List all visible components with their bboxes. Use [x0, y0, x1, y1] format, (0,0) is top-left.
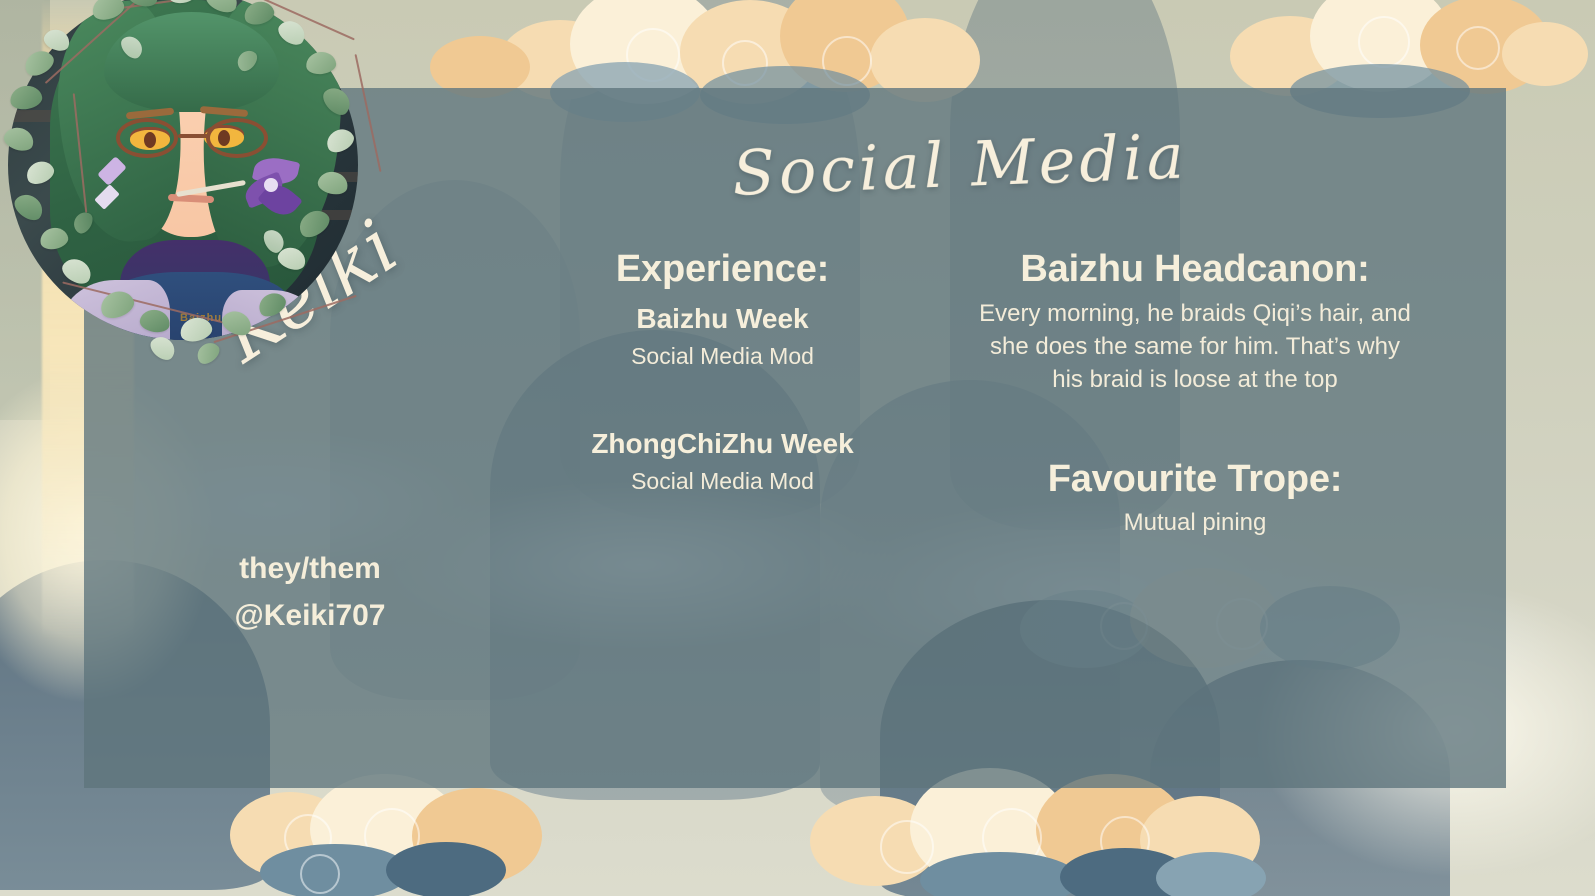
avatar-purple-flower [236, 158, 308, 220]
experience-entry: Baizhu Week Social Media Mod [540, 301, 905, 374]
avatar-glasses-icon [116, 118, 268, 160]
experience-spacer [540, 374, 905, 416]
headcanon-heading: Baizhu Headcanon: [975, 248, 1415, 291]
experience-heading: Experience: [540, 248, 905, 291]
avatar[interactable]: Baizhu [8, 0, 358, 340]
experience-column: Experience: Baizhu Week Social Media Mod… [540, 248, 905, 498]
experience-entry-role: Social Media Mod [540, 340, 905, 374]
trope-heading: Favourite Trope: [975, 458, 1415, 501]
identity-block: they/them @Keiki707 [210, 545, 410, 640]
headcanon-column: Baizhu Headcanon: Every morning, he brai… [975, 248, 1415, 540]
trope-value: Mutual pining [975, 506, 1415, 539]
headcanon-body: Every morning, he braids Qiqi’s hair, an… [975, 297, 1415, 396]
handle-label[interactable]: @Keiki707 [210, 592, 410, 639]
card-canvas: Social Media Keiki they/them @Keiki707 E… [0, 0, 1595, 896]
decor-cloud-top-right [1230, 0, 1590, 100]
avatar-signature: Baizhu [180, 312, 222, 324]
experience-entry-role: Social Media Mod [540, 465, 905, 499]
experience-entry: ZhongChiZhu Week Social Media Mod [540, 426, 905, 499]
experience-entry-title: Baizhu Week [540, 301, 905, 337]
experience-entry-title: ZhongChiZhu Week [540, 426, 905, 462]
pronouns-label: they/them [210, 545, 410, 592]
trope-block: Favourite Trope: Mutual pining [975, 458, 1415, 540]
